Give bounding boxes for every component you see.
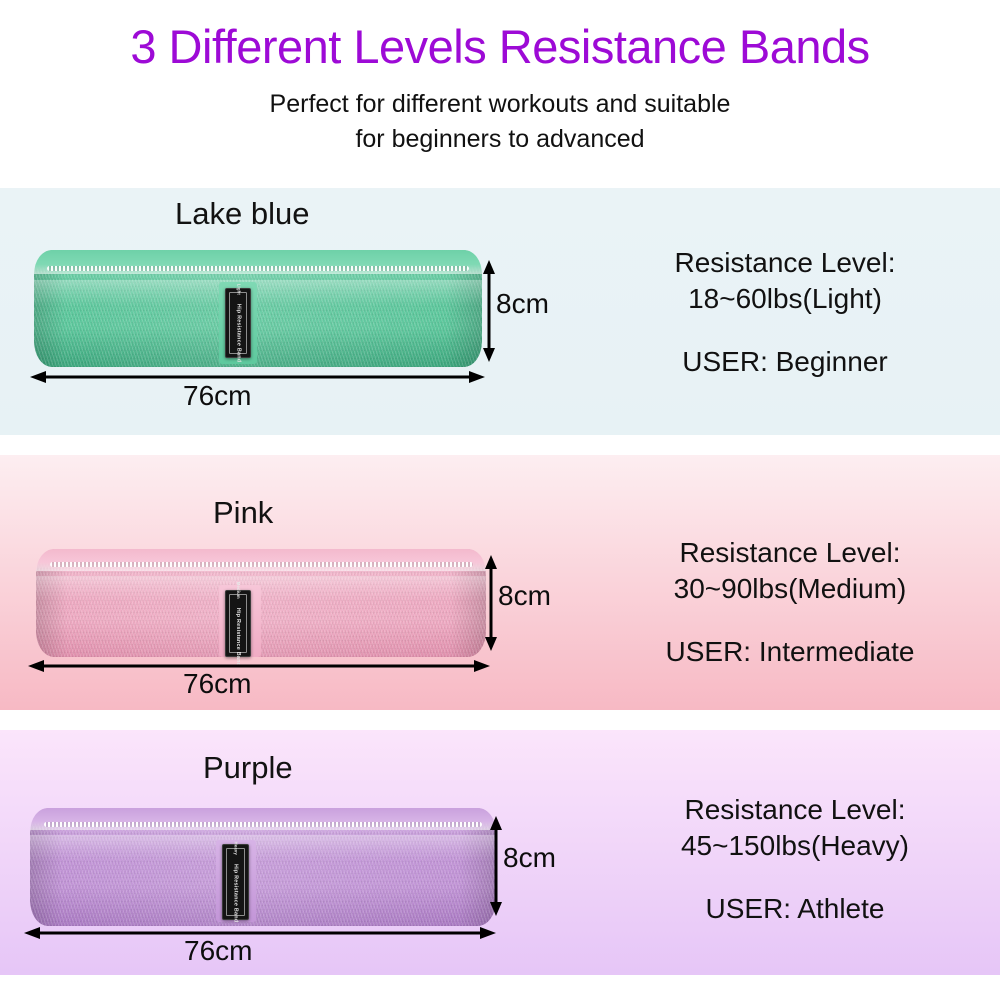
resistance-level-value: 30~90lbs(Medium) (600, 571, 980, 607)
band-tag-level: Heavy (234, 842, 239, 855)
resistance-level-label: Resistance Level: (600, 792, 990, 828)
width-dimension-arrow (30, 366, 485, 388)
width-dimension-label: 76cm (183, 668, 251, 700)
subtitle-line-2: for beginners to advanced (0, 122, 1000, 157)
resistance-band-image: Light Hip Resistance Band (34, 250, 482, 367)
height-dimension-label: 8cm (496, 288, 549, 320)
band-brand-tag: Medium Hip Resistance Band (225, 590, 251, 657)
band-stitch-line (44, 822, 482, 827)
page-title: 3 Different Levels Resistance Bands (0, 22, 1000, 71)
resistance-level-value: 45~150lbs(Heavy) (600, 828, 990, 864)
product-panel-purple: Purple Heavy Hip Resistance Band (0, 730, 1000, 975)
width-dimension-label: 76cm (183, 380, 251, 412)
resistance-level-value: 18~60lbs(Light) (600, 281, 970, 317)
band-tag-name: Hip Resistance Band (235, 304, 241, 362)
resistance-band-image: Medium Hip Resistance Band (36, 549, 486, 657)
color-name-label: Purple (203, 750, 293, 786)
spec-block: Resistance Level: 30~90lbs(Medium) USER:… (600, 535, 980, 670)
user-level-label: USER: Beginner (600, 344, 970, 380)
band-tag-level: Medium (236, 581, 241, 598)
color-name-label: Lake blue (175, 196, 309, 232)
user-level-label: USER: Athlete (600, 891, 990, 927)
width-dimension-label: 76cm (184, 935, 252, 967)
height-dimension-label: 8cm (498, 580, 551, 612)
band-highlight (34, 280, 482, 306)
resistance-level-label: Resistance Level: (600, 535, 980, 571)
spec-block: Resistance Level: 18~60lbs(Light) USER: … (600, 245, 970, 380)
user-level-label: USER: Intermediate (600, 634, 980, 670)
height-dimension-label: 8cm (503, 842, 556, 874)
band-brand-tag: Heavy Hip Resistance Band (222, 844, 249, 920)
band-tag-level: Light (236, 284, 241, 295)
header: 3 Different Levels Resistance Bands Perf… (0, 0, 1000, 156)
band-stitch-line (50, 562, 473, 567)
resistance-band-image: Heavy Hip Resistance Band (30, 808, 496, 926)
resistance-level-label: Resistance Level: (600, 245, 970, 281)
band-tag-name: Hip Resistance Band (233, 864, 239, 922)
subtitle-line-1: Perfect for different workouts and suita… (0, 87, 1000, 122)
width-dimension-arrow (24, 922, 496, 944)
band-brand-tag: Light Hip Resistance Band (225, 288, 251, 358)
subtitle: Perfect for different workouts and suita… (0, 87, 1000, 156)
color-name-label: Pink (213, 495, 273, 531)
band-highlight (36, 576, 486, 600)
band-stitch-line (47, 266, 468, 271)
product-panel-pink: Pink Medium Hip Resistance Band (0, 455, 1000, 710)
band-top-rim (36, 549, 486, 571)
band-top-rim (30, 808, 496, 830)
width-dimension-arrow (28, 655, 490, 677)
band-highlight (30, 835, 496, 861)
spec-block: Resistance Level: 45~150lbs(Heavy) USER:… (600, 792, 990, 927)
band-top-rim (34, 250, 482, 274)
product-panel-lake-blue: Lake blue Light Hip Resistance Band (0, 188, 1000, 435)
